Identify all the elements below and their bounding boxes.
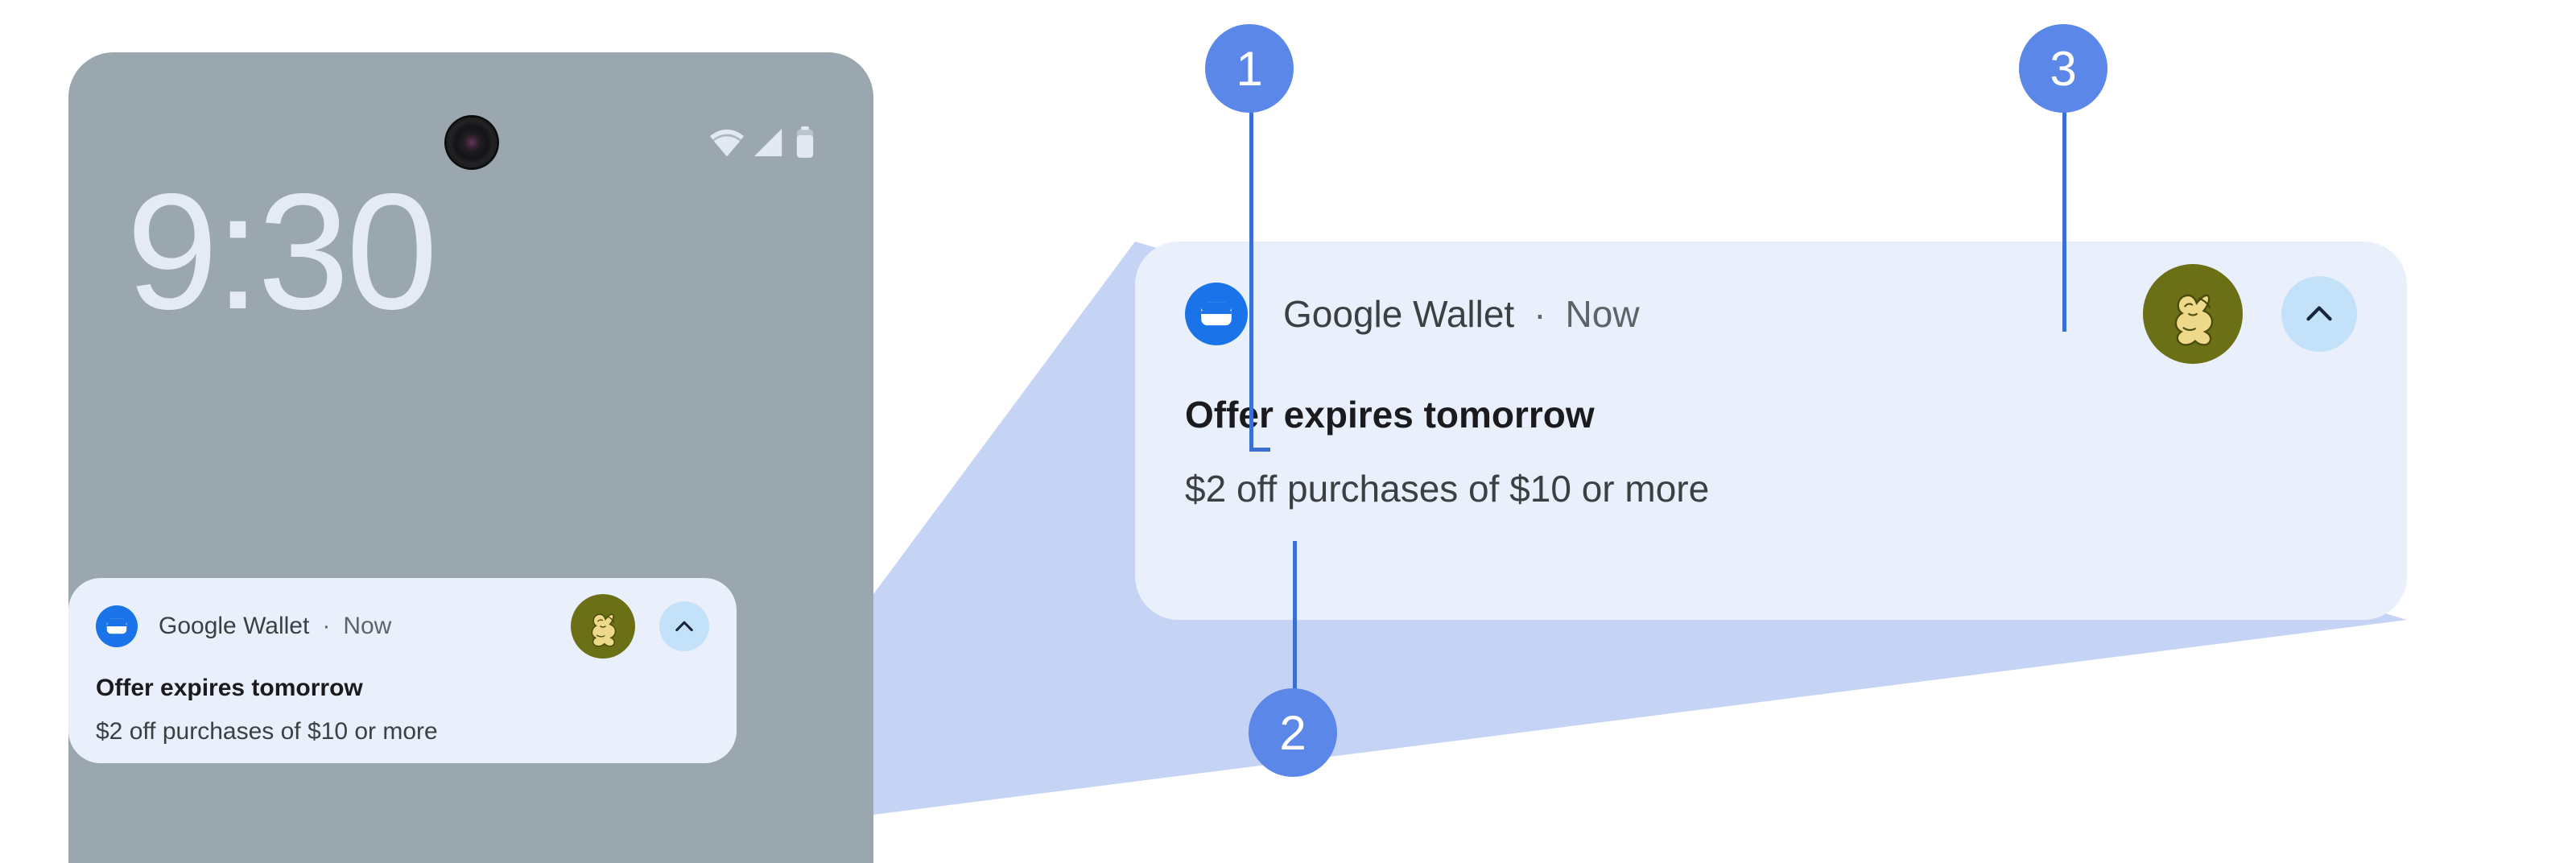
wifi-icon <box>709 127 745 158</box>
phone-status-bar <box>68 52 873 173</box>
notification-app-name: Google Wallet <box>1283 292 1514 336</box>
google-wallet-icon <box>1185 283 1248 345</box>
merchant-logo-avatar <box>571 594 635 659</box>
battery-icon <box>795 126 815 159</box>
notification-body: $2 off purchases of $10 or more <box>1185 467 2357 510</box>
leader-line-2 <box>1293 541 1297 690</box>
status-icon-group <box>709 126 815 159</box>
notification-header-small: Google Wallet · Now <box>96 602 709 650</box>
merchant-logo-avatar <box>2143 264 2243 364</box>
callout-number-2: 2 <box>1249 688 1337 777</box>
leader-line-1-elbow <box>1249 448 1270 452</box>
notification-separator: · <box>322 613 330 640</box>
expand-notification-button[interactable] <box>2281 276 2357 352</box>
front-camera-punch-hole-icon <box>447 118 497 167</box>
notification-time: Now <box>1566 292 1640 336</box>
notification-title: Offer expires tomorrow <box>96 675 709 702</box>
chevron-up-icon <box>2299 294 2339 334</box>
expand-notification-button[interactable] <box>659 601 709 651</box>
callout-number-3: 3 <box>2019 24 2107 113</box>
callout-badge-3[interactable]: 3 <box>2019 24 2107 113</box>
notification-header-enlarged: Google Wallet · Now <box>1185 277 2357 351</box>
notification-body: $2 off purchases of $10 or more <box>96 718 709 745</box>
notification-title: Offer expires tomorrow <box>1185 393 2357 436</box>
notification-app-name: Google Wallet <box>159 613 309 640</box>
notification-time: Now <box>343 613 391 640</box>
callout-badge-2[interactable]: 2 <box>1249 688 1337 777</box>
leader-line-1 <box>1249 93 1253 451</box>
lockscreen-clock: 9:30 <box>126 157 435 347</box>
notification-separator: · <box>1534 292 1546 336</box>
callout-number-1: 1 <box>1205 24 1294 113</box>
cellular-signal-icon <box>753 127 786 158</box>
notification-card-small[interactable]: Google Wallet · Now <box>68 578 737 763</box>
leader-line-3 <box>2062 90 2066 332</box>
callout-badge-1[interactable]: 1 <box>1205 24 1294 113</box>
chevron-up-icon <box>671 613 698 640</box>
screenshot-canvas: 9:30 Google Wallet · Now <box>0 0 2576 863</box>
google-wallet-icon <box>96 605 138 647</box>
notification-card-enlarged[interactable]: Google Wallet · Now <box>1135 242 2407 620</box>
